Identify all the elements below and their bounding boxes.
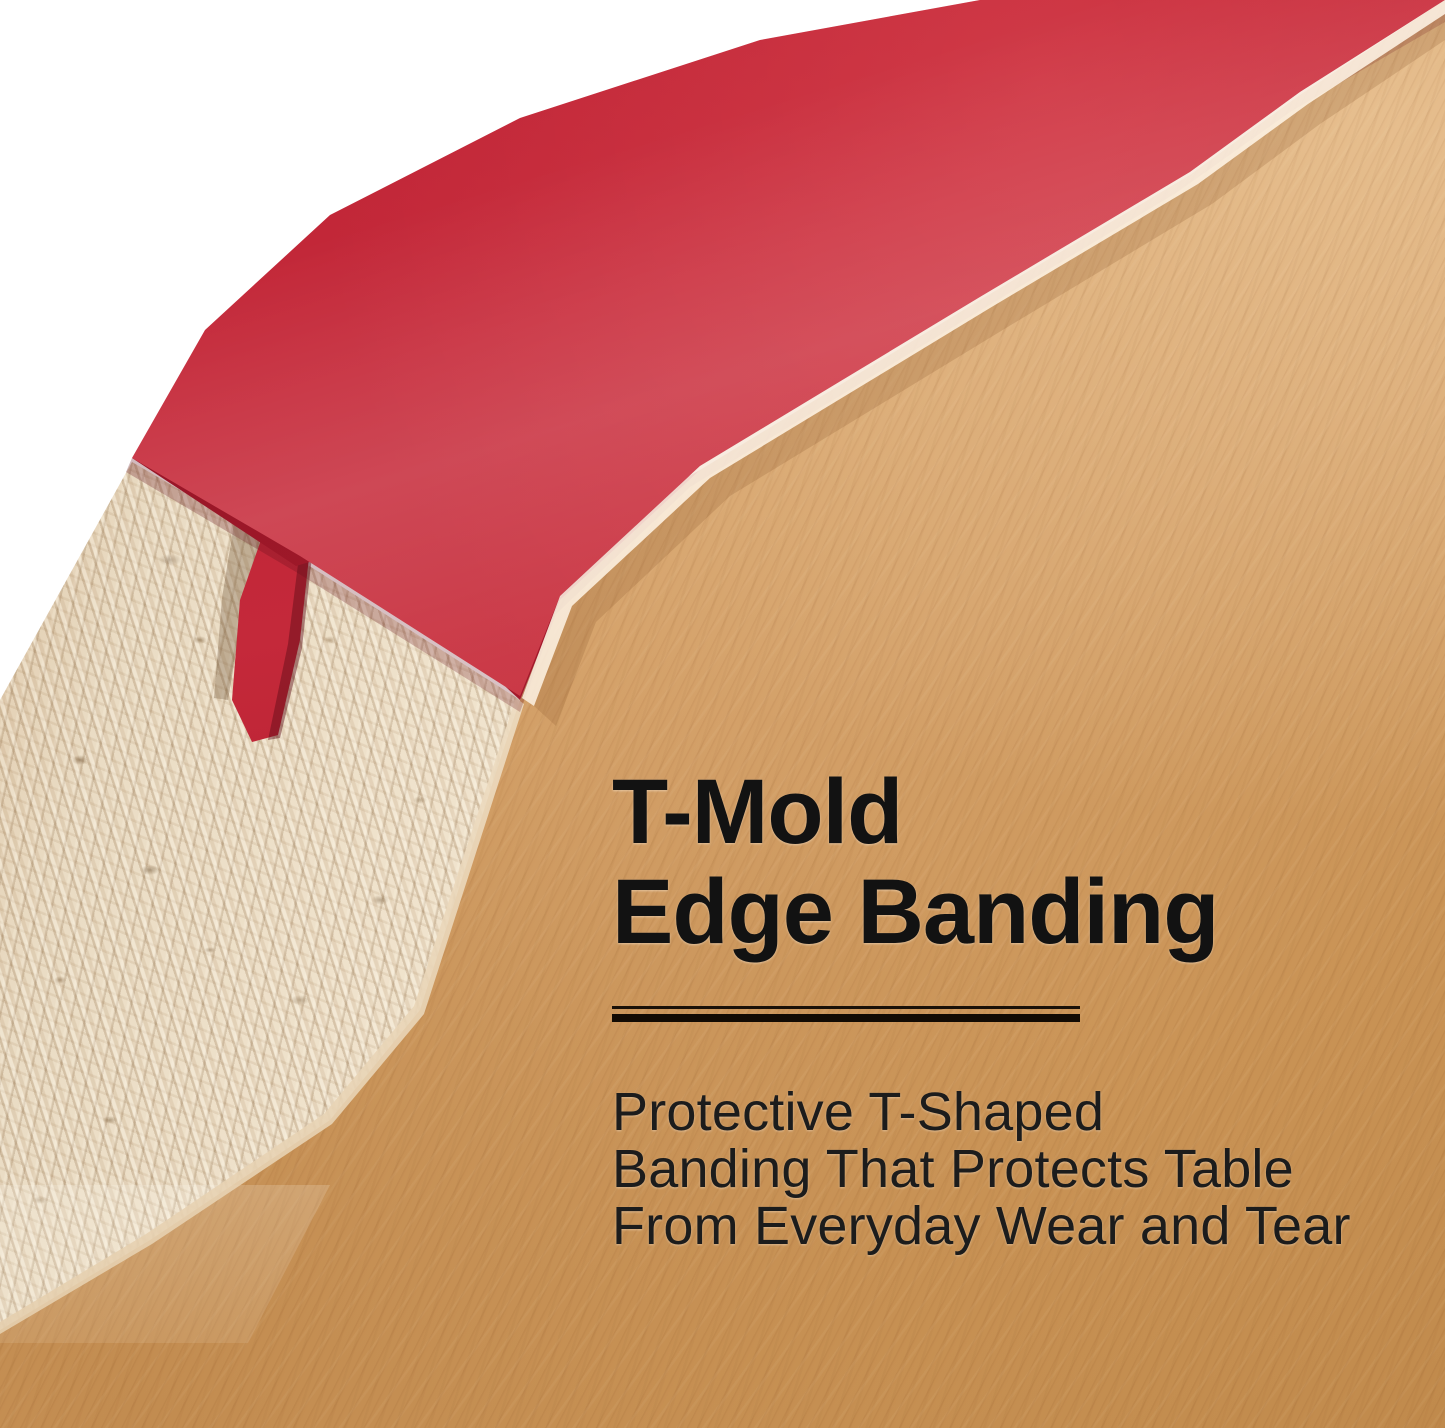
headline-line-2: Edge Banding <box>612 862 1372 962</box>
description-line-3: From Everyday Wear and Tear <box>612 1198 1372 1255</box>
marketing-copy-block: T-Mold Edge Banding Protective T-Shaped … <box>612 762 1372 1255</box>
divider-rule-thick <box>612 1014 1080 1022</box>
headline-line-1: T-Mold <box>612 762 1372 862</box>
description-text: Protective T-Shaped Banding That Protect… <box>612 1084 1372 1255</box>
description-line-2: Banding That Protects Table <box>612 1141 1372 1198</box>
description-line-1: Protective T-Shaped <box>612 1084 1372 1141</box>
divider-rule <box>612 1006 1080 1022</box>
product-feature-image: T-Mold Edge Banding Protective T-Shaped … <box>0 0 1445 1428</box>
